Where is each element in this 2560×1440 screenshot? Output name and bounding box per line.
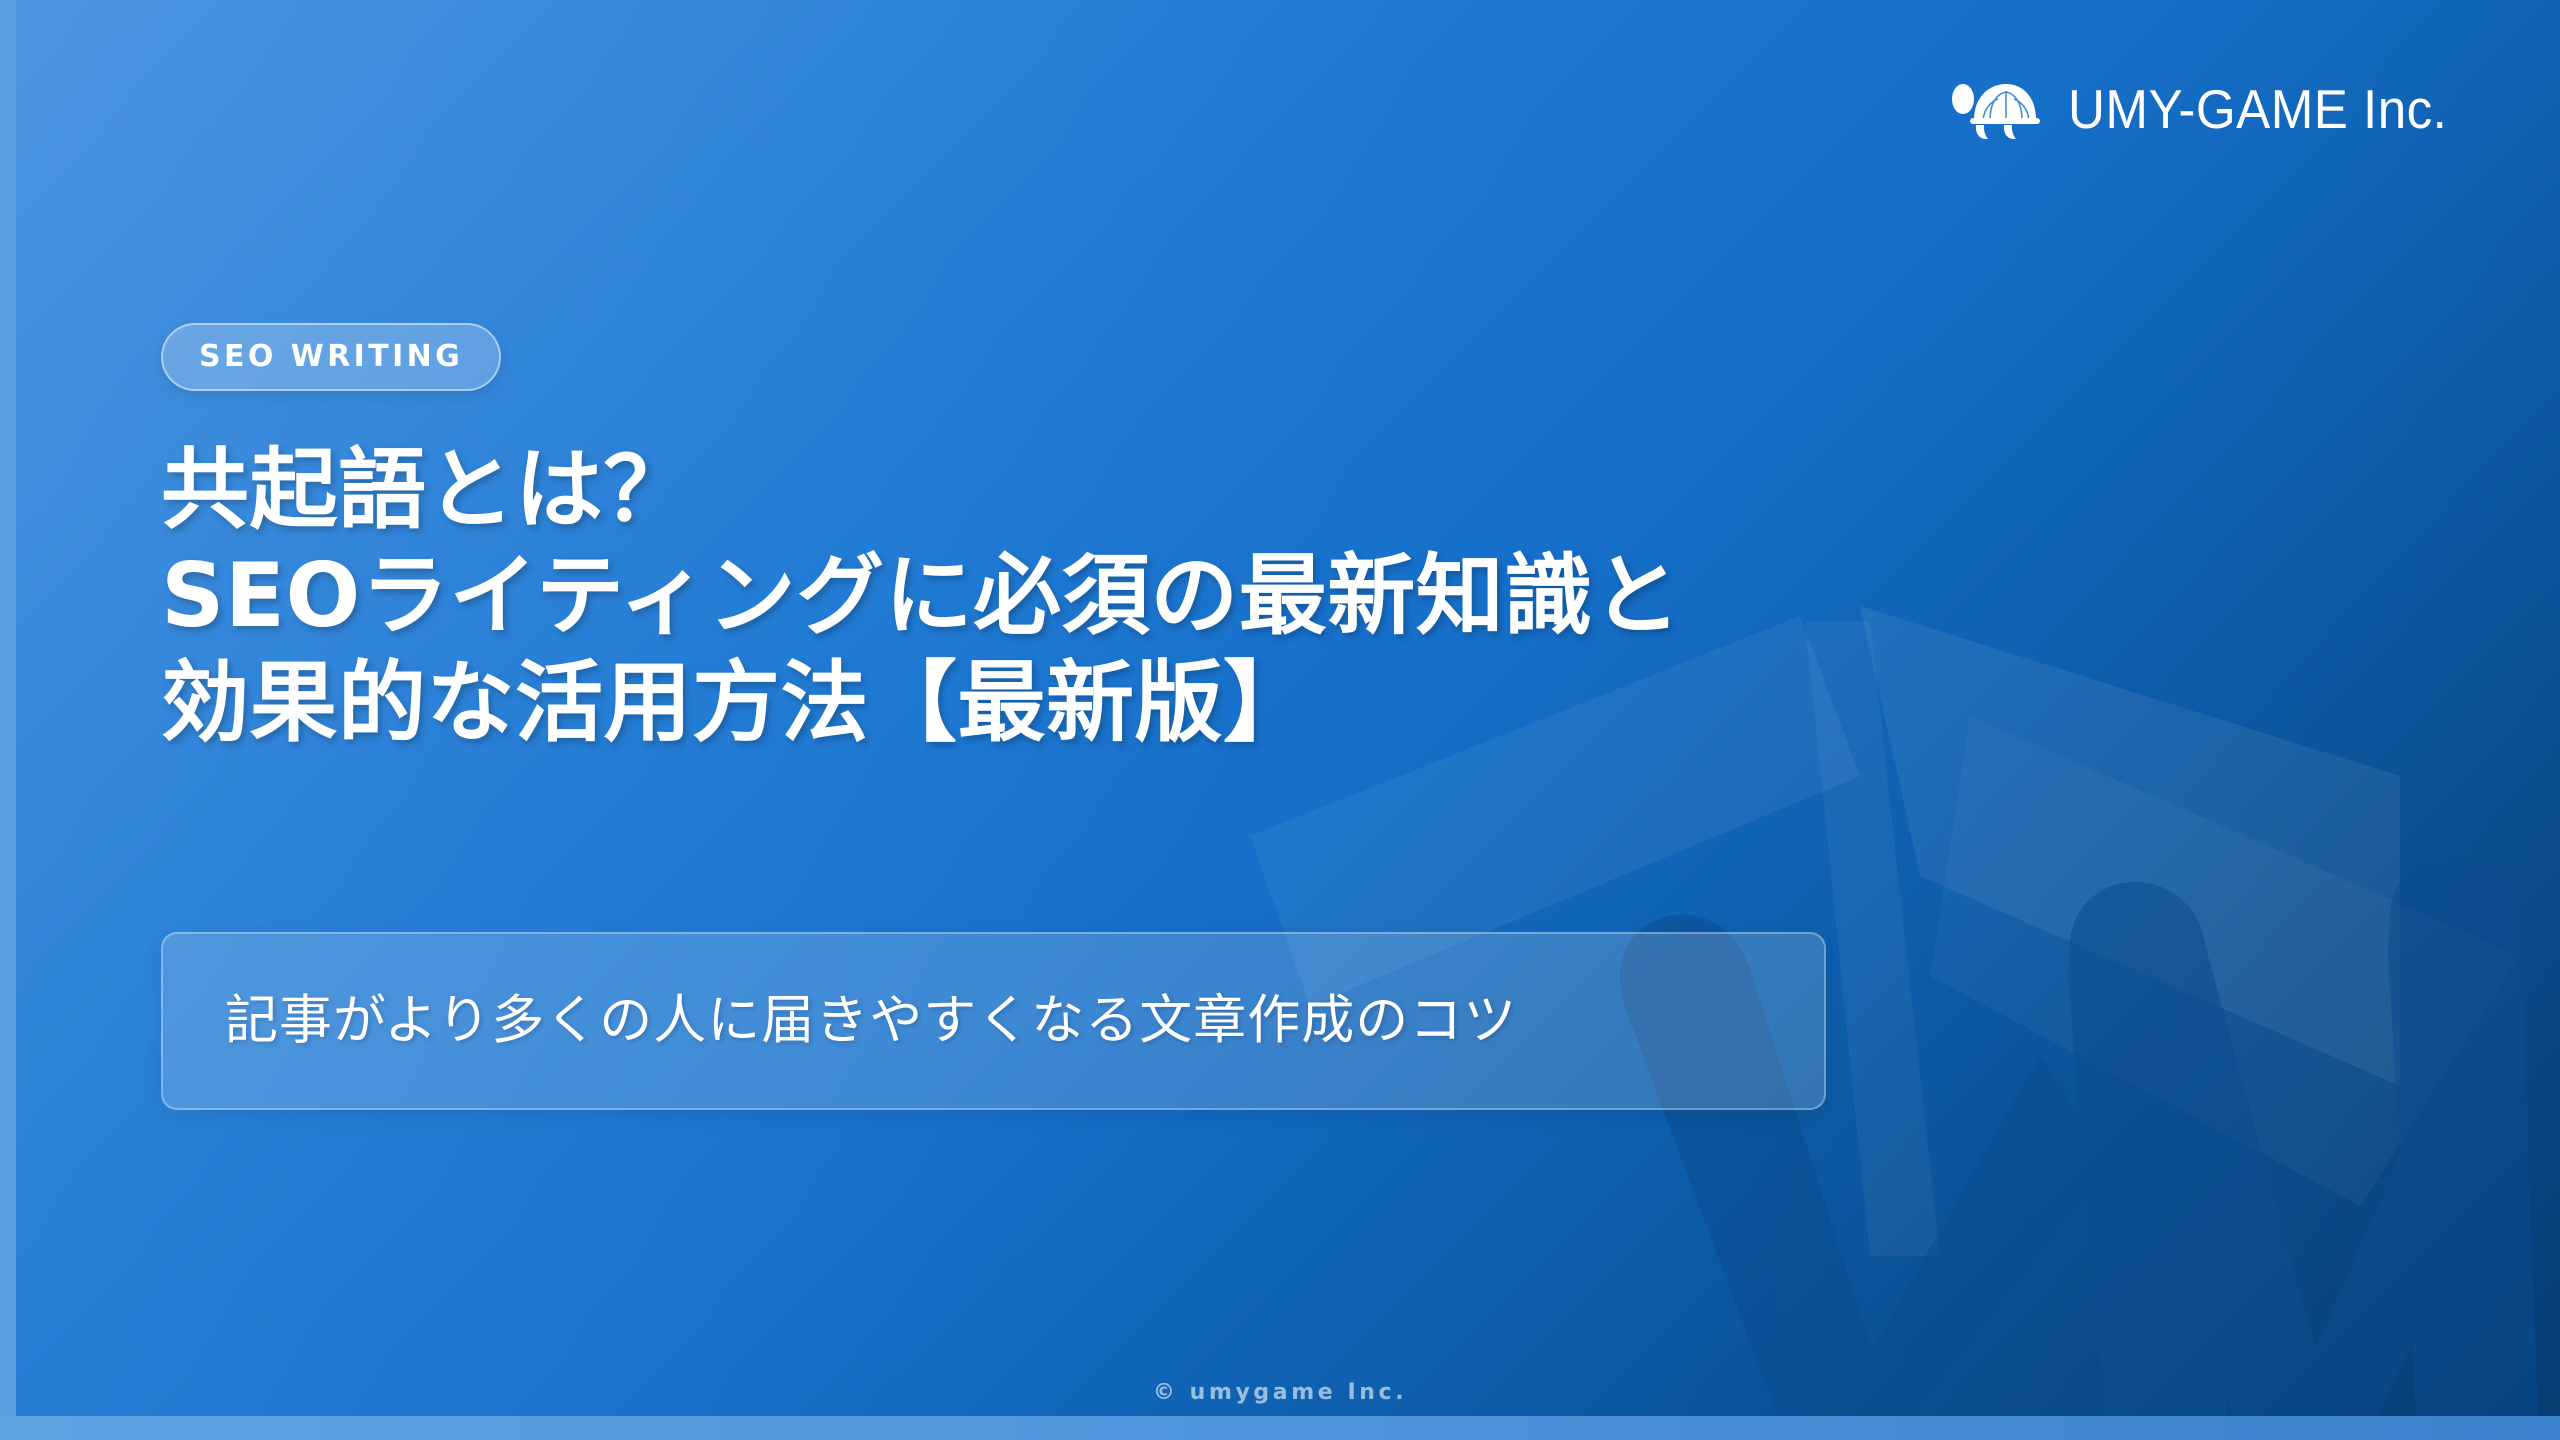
page-title: 共起語とは？ SEOライティングに必須の最新知識と 効果的な活用方法【最新版】 (161, 437, 2281, 756)
title-line-1: 共起語とは？ (161, 437, 2281, 543)
copyright-text: © umygame Inc. (1153, 1380, 1407, 1405)
category-badge[interactable]: SEO WRITING (161, 323, 501, 391)
turtle-icon (1950, 78, 2046, 140)
bottom-accent-band (0, 1416, 2560, 1440)
footer: © umygame Inc. (0, 1380, 2560, 1405)
category-badge-label: SEO WRITING (199, 342, 463, 372)
slide-canvas: UMY-GAME Inc. SEO WRITING 共起語とは？ SEOライティ… (0, 0, 2560, 1440)
subtitle-panel: 記事がより多くの人に届きやすくなる文章作成のコツ (161, 932, 1826, 1110)
subtitle-text: 記事がより多くの人に届きやすくなる文章作成のコツ (225, 988, 1517, 1054)
title-line-3: 効果的な活用方法【最新版】 (161, 650, 2281, 756)
brand-name: UMY-GAME Inc. (2068, 82, 2447, 137)
brand-logo: UMY-GAME Inc. (1950, 78, 2476, 140)
title-line-2: SEOライティングに必須の最新知識と (161, 543, 2281, 649)
